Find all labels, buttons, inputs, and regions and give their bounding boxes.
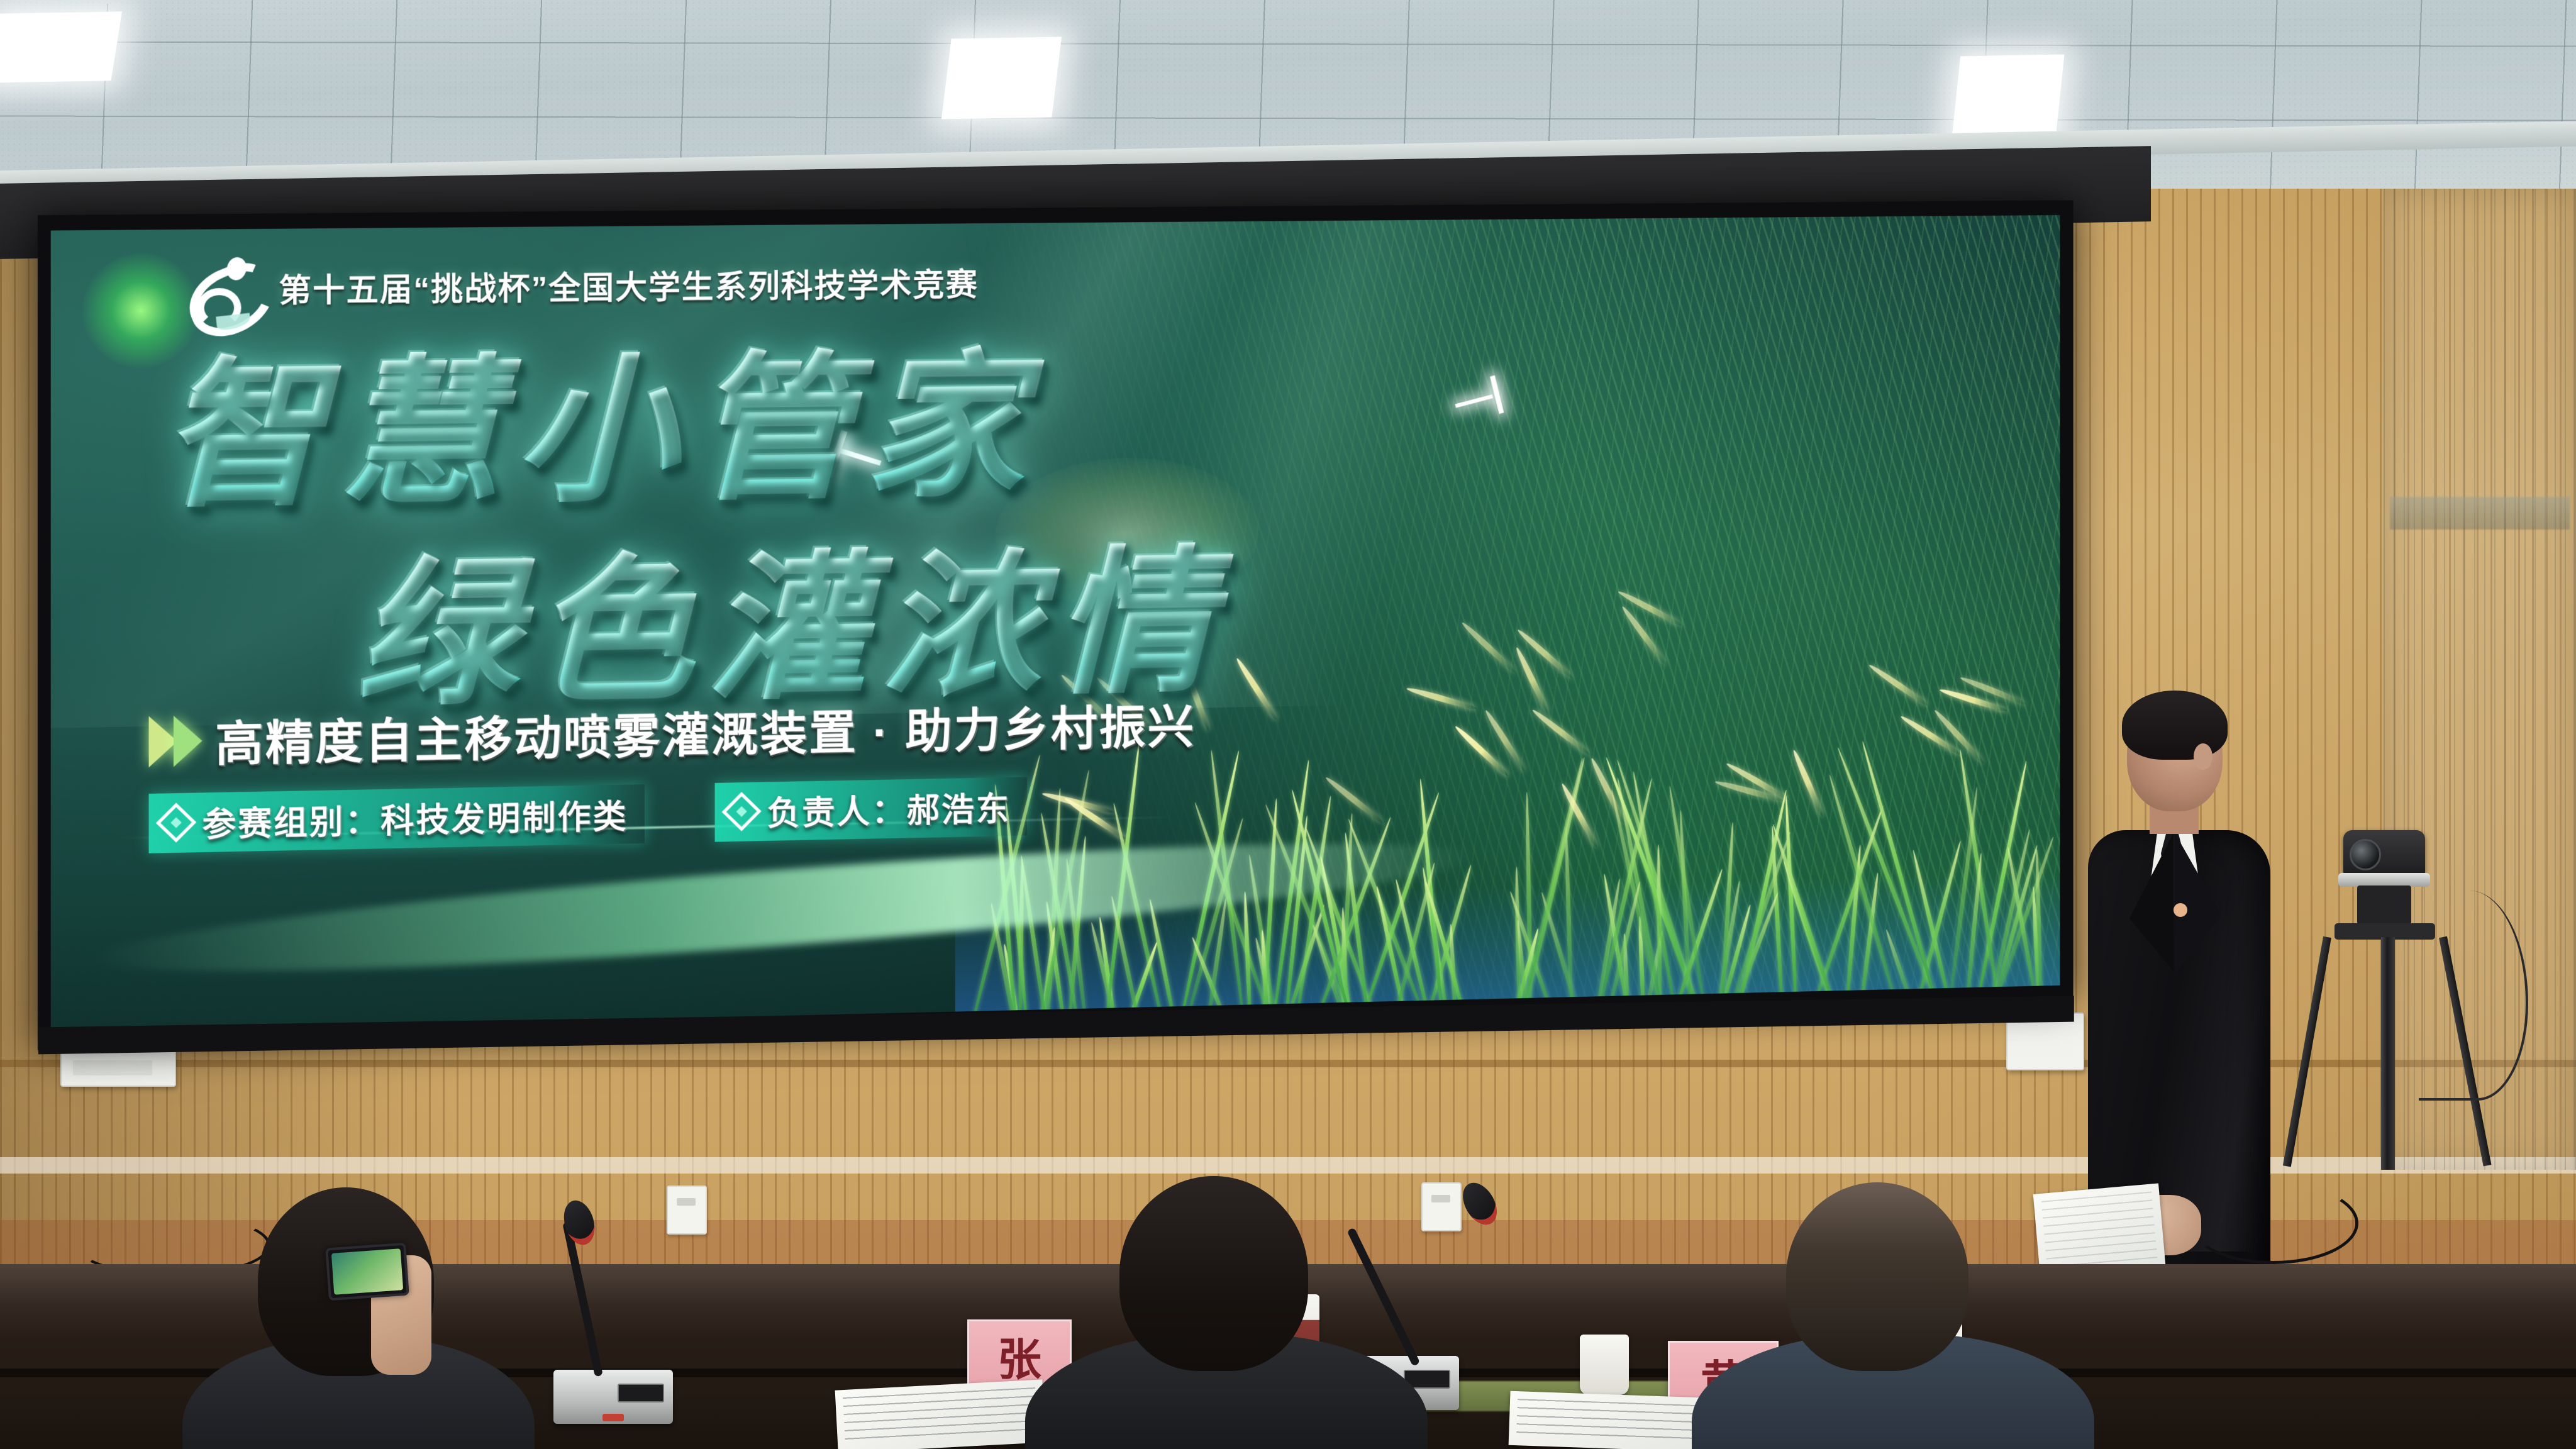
slide-tag-category: 参赛组别：科技发明制作类 — [149, 784, 645, 853]
floor-cable — [2189, 1182, 2358, 1264]
curtain-tieback — [2390, 497, 2570, 530]
diamond-icon — [156, 802, 196, 842]
wall-socket[interactable] — [667, 1185, 707, 1235]
microphone-talk-button[interactable] — [602, 1414, 624, 1421]
wall-box-grid — [73, 1060, 152, 1075]
smartphone-screen — [331, 1248, 403, 1295]
tripod-center-column — [2381, 937, 2395, 1170]
rice-blade — [1989, 845, 2040, 1012]
microphone-display — [618, 1384, 664, 1402]
rice-blade — [1670, 869, 1724, 1012]
attendee-right — [1692, 1182, 2094, 1449]
tripod-leg — [2283, 936, 2331, 1167]
rice-ear — [1791, 748, 1825, 818]
slide-tag-category-label: 参赛组别：科技发明制作类 — [203, 790, 628, 846]
chevron-right-icon — [174, 715, 203, 767]
slide-tag-leader-label: 负责人：郝浩东 — [767, 782, 1011, 835]
smartphone[interactable] — [325, 1243, 409, 1301]
attendee-center-head — [1119, 1176, 1308, 1371]
rice-blade — [1913, 840, 1963, 1011]
attendee-left — [182, 1187, 535, 1449]
conference-microphone-unit[interactable] — [553, 1370, 673, 1424]
ceiling-light-panel — [0, 11, 122, 82]
presenter-hair — [2122, 691, 2228, 760]
ptz-camera-tripod[interactable] — [2289, 830, 2503, 1170]
ceiling-light-panel — [941, 36, 1062, 119]
presenter-ear — [2194, 743, 2212, 770]
papers-on-table — [835, 1379, 1046, 1449]
slide-title: 智慧小管家 绿色灌浓情 — [51, 289, 2060, 743]
attendee-right-head — [1786, 1182, 1968, 1371]
paper-cup — [1580, 1335, 1629, 1395]
attendee-center — [1025, 1176, 1428, 1449]
slide-tag-leader: 负责人：郝浩东 — [715, 777, 1027, 842]
rice-ear — [1933, 708, 1985, 765]
camera-neck — [2357, 885, 2411, 924]
rice-ear — [1041, 791, 1114, 815]
diamond-icon — [722, 792, 762, 831]
led-screen[interactable]: 第十五届“挑战杯”全国大学生系列科技学术竞赛 智慧小管家 绿色灌浓情 高精度自主… — [38, 200, 2074, 1050]
camera-mount-ring — [2338, 873, 2430, 887]
presenter-lapel-pin — [2173, 903, 2187, 917]
screen-display-area: 第十五届“挑战杯”全国大学生系列科技学术竞赛 智慧小管家 绿色灌浓情 高精度自主… — [51, 215, 2060, 1033]
rice-ear — [1899, 714, 1963, 757]
rice-ear — [1324, 775, 1385, 825]
camera-lens-icon — [2350, 839, 2381, 870]
conference-hall-photo: 第十五届“挑战杯”全国大学生系列科技学术竞赛 智慧小管家 绿色灌浓情 高精度自主… — [0, 0, 2576, 1449]
